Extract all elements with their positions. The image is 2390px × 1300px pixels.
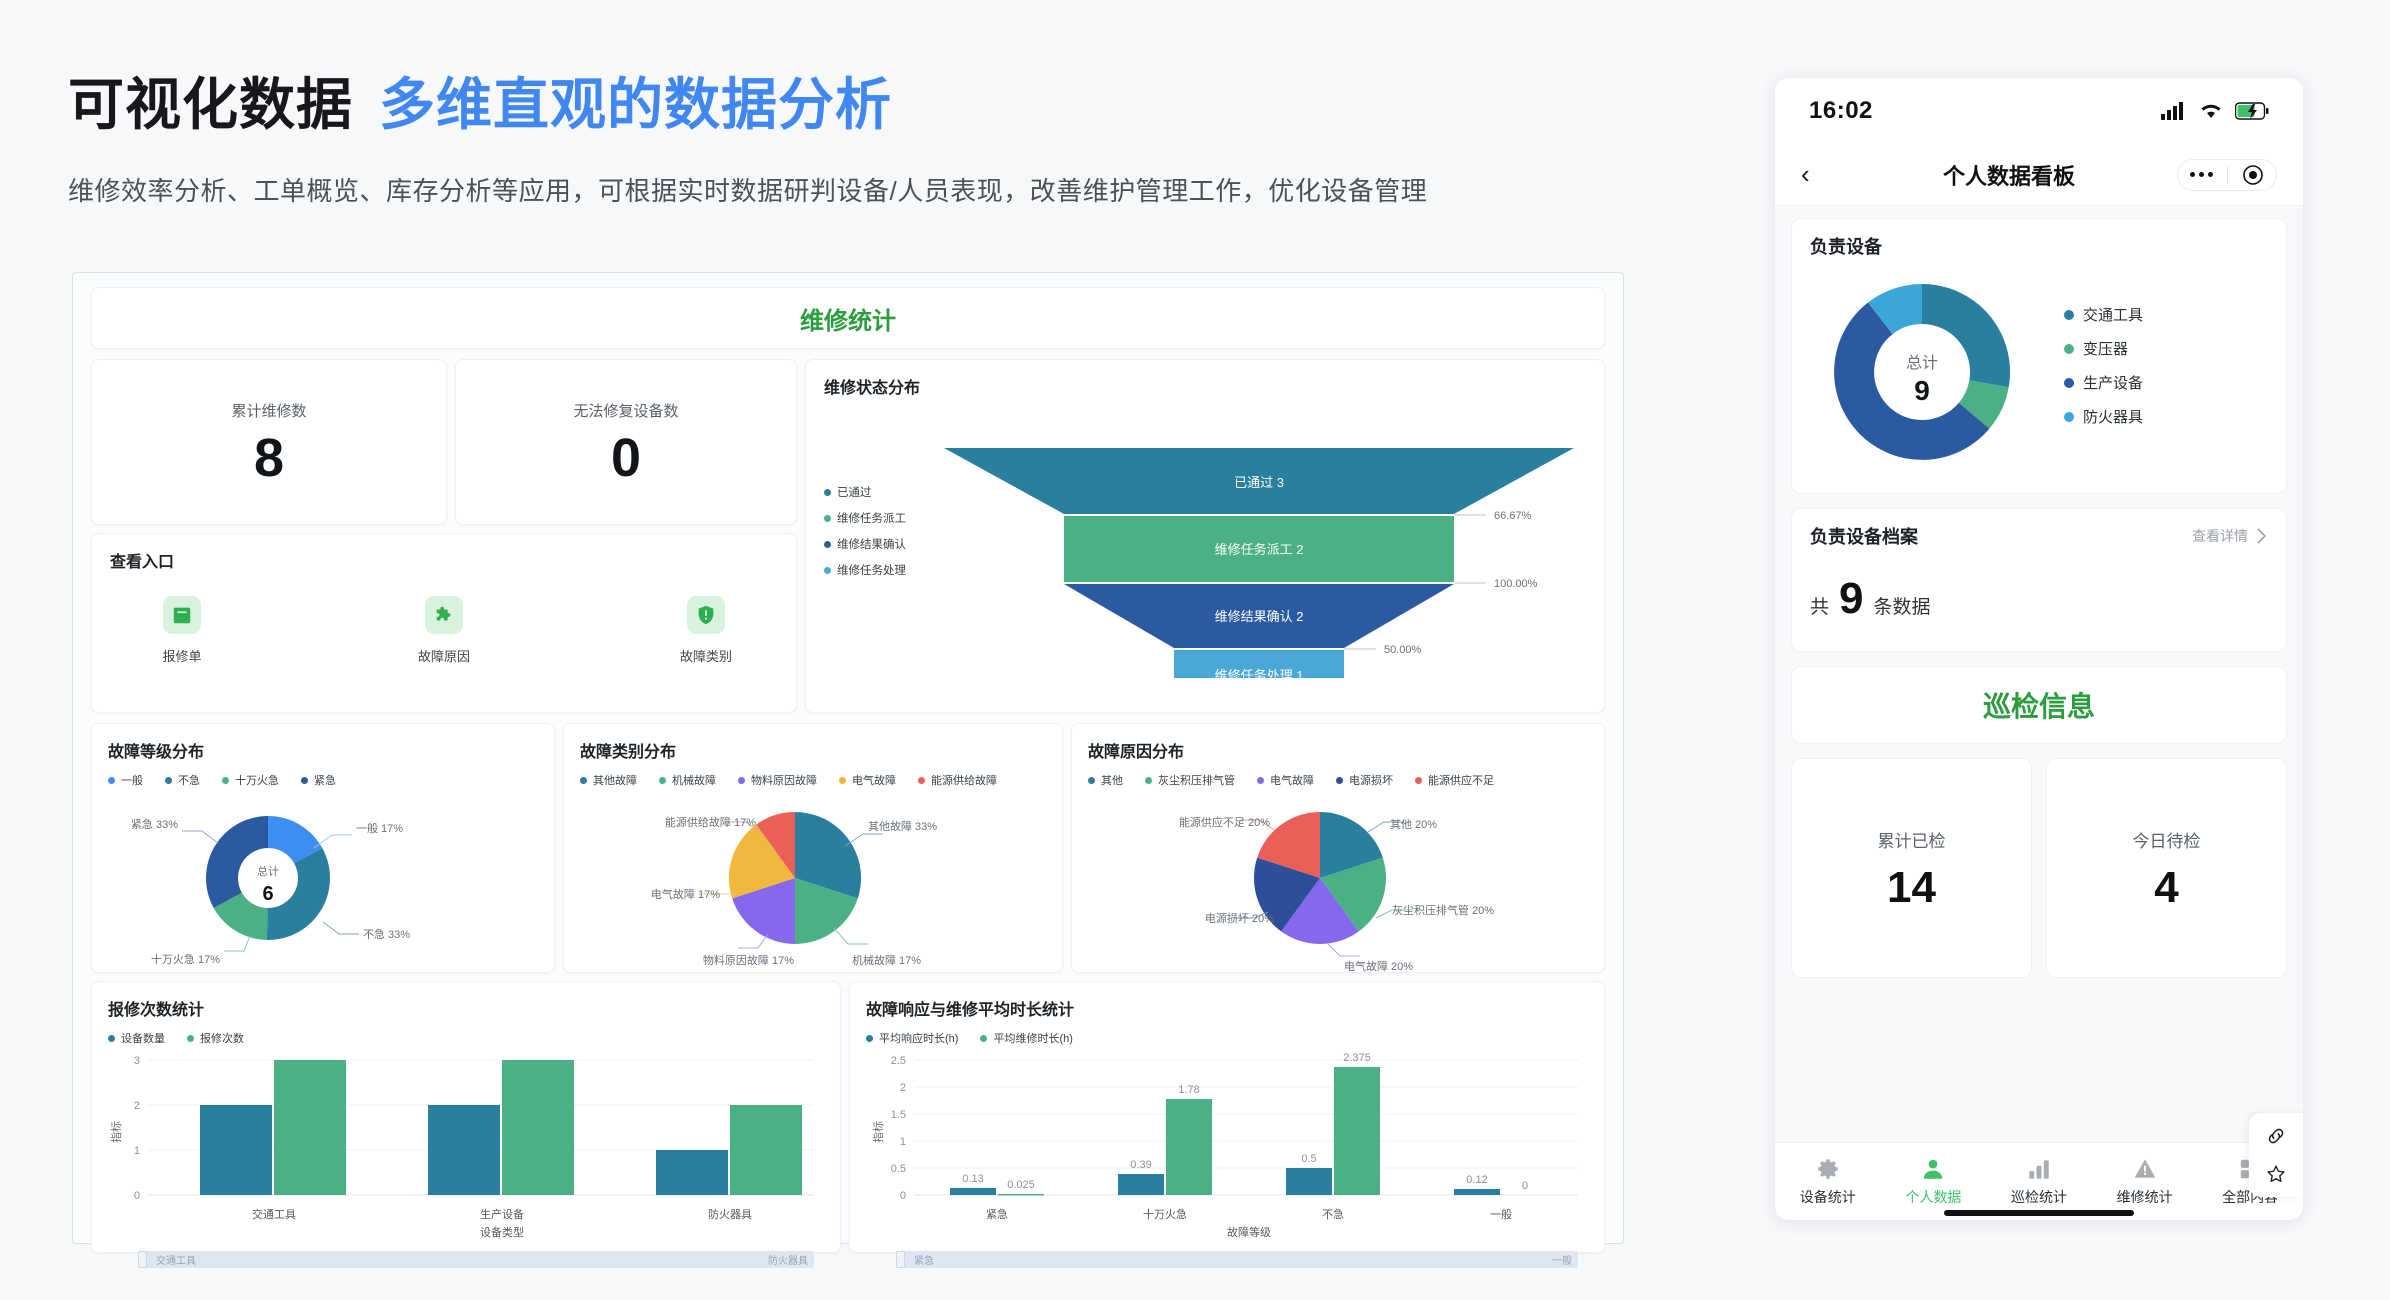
chart-legend: 平均响应时长(h) 平均维修时长(h) — [866, 1030, 1588, 1046]
funnel-segment-label: 维修任务派工 2 — [1215, 542, 1304, 557]
legend-dot — [866, 1035, 873, 1042]
kpi-card-unrepairable[interactable]: 无法修复设备数 0 — [455, 359, 797, 525]
pie-slice-label: 十万火急 17% — [151, 952, 220, 966]
bar-value-label: 0.39 — [1130, 1159, 1151, 1171]
pie-slice-label: 灰尘积压排气管 20% — [1392, 903, 1494, 917]
page-root: 可视化数据多维直观的数据分析 维修效率分析、工单概览、库存分析等应用，可根据实时… — [0, 0, 2390, 1300]
legend-label: 电气故障 — [852, 772, 896, 788]
chart-legend: 一般 不急 十万火急 紧急 — [108, 772, 538, 788]
legend-label: 灰尘积压排气管 — [1158, 772, 1235, 788]
legend-item[interactable]: 已通过 — [824, 484, 906, 500]
legend-dot — [2064, 378, 2074, 388]
legend-dot — [108, 1035, 115, 1042]
pie-slice-label: 一般 17% — [356, 822, 403, 835]
stat-card-checked[interactable]: 累计已检 14 — [1791, 758, 2032, 978]
y-tick: 1.5 — [891, 1109, 906, 1121]
legend-label: 物料原因故障 — [751, 772, 817, 788]
scroll-label-right: 一般 — [1552, 1252, 1572, 1267]
donut-svg: 总计 6 一般 17% 不急 33% 十万火急 17% 紧急 33% — [108, 788, 540, 974]
legend-dot — [1336, 777, 1343, 784]
legend-dot — [1145, 777, 1152, 784]
legend-dot — [222, 777, 229, 784]
legend-label: 已通过 — [837, 484, 872, 500]
legend-item[interactable]: 其他 — [1088, 772, 1123, 788]
legend-item[interactable]: 设备数量 — [108, 1030, 165, 1046]
view-detail-label: 查看详情 — [2192, 526, 2248, 546]
y-tick: 1 — [900, 1136, 906, 1148]
legend-dot — [187, 1035, 194, 1042]
donut-center-label: 总计 — [257, 864, 279, 878]
stat-label: 今日待检 — [2133, 827, 2201, 852]
chart-legend: 其他故障 机械故障 物料原因故障 电气故障 能源供给故障 — [580, 772, 1046, 788]
funnel-legend: 已通过 维修任务派工 维修结果确认 维修任务处理 — [824, 484, 906, 588]
kpi-label: 无法修复设备数 — [573, 400, 678, 421]
scroll-handle[interactable] — [896, 1251, 905, 1268]
divider — [2227, 166, 2228, 184]
entry-label: 故障类别 — [680, 646, 732, 665]
status-time: 16:02 — [1809, 97, 1873, 125]
x-tick: 紧急 — [986, 1207, 1008, 1221]
gear-icon — [1815, 1156, 1841, 1182]
legend-item[interactable]: 维修任务派工 — [824, 510, 906, 526]
hero-section: 可视化数据多维直观的数据分析 维修效率分析、工单概览、库存分析等应用，可根据实时… — [68, 60, 1708, 208]
legend-label: 其他故障 — [593, 772, 637, 788]
kpi-value: 8 — [254, 431, 284, 485]
tab-label: 巡检统计 — [2011, 1187, 2067, 1207]
tab-label: 设备统计 — [1800, 1187, 1856, 1207]
legend-item[interactable]: 能源供给故障 — [918, 772, 997, 788]
star-icon[interactable] — [2265, 1163, 2287, 1185]
y-tick: 2.5 — [891, 1055, 906, 1067]
legend-dot — [659, 777, 666, 784]
chart-legend: 其他 灰尘积压排气管 电气故障 电源损坏 能源供应不足 — [1088, 772, 1588, 788]
legend-item[interactable]: 维修任务处理 — [824, 562, 906, 578]
x-tick: 一般 — [1490, 1208, 1512, 1221]
shield-alert-icon — [687, 596, 725, 634]
page-subtitle: 维修效率分析、工单概览、库存分析等应用，可根据实时数据研判设备/人员表现，改善维… — [68, 171, 1708, 208]
bar-chart-svg: 2.5 2 1.5 1 0.5 0 指标 0. — [866, 1046, 1590, 1246]
stat-value: 4 — [2154, 866, 2178, 910]
y-tick: 0.5 — [891, 1163, 906, 1175]
legend-dot — [2064, 310, 2074, 320]
tab-personal-data[interactable]: 个人数据 — [1881, 1156, 1987, 1207]
more-dots-icon[interactable] — [2190, 172, 2213, 177]
inspection-stats-row: 累计已检 14 今日待检 4 — [1791, 758, 2287, 978]
archive-count: 共 9 条数据 — [1792, 549, 2286, 651]
entries-card: 查看入口 报修单 故障原因 — [91, 533, 797, 713]
legend-label: 维修任务处理 — [837, 562, 906, 578]
legend-item[interactable]: 物料原因故障 — [738, 772, 817, 788]
legend-item[interactable]: 电源损坏 — [1336, 772, 1393, 788]
legend-label: 平均维修时长(h) — [993, 1030, 1072, 1046]
legend-item[interactable]: 电气故障 — [1257, 772, 1314, 788]
legend-item[interactable]: 不急 — [165, 772, 200, 788]
repair-count-chart-card: 报修次数统计 设备数量 报修次数 3 2 1 0 指标 — [91, 981, 841, 1253]
x-axis-label: 故障等级 — [1227, 1225, 1271, 1239]
person-icon — [1920, 1156, 1946, 1182]
funnel-conversion-label: 50.00% — [1384, 644, 1422, 656]
legend-item[interactable]: 平均维修时长(h) — [980, 1030, 1072, 1046]
signal-icon — [2161, 102, 2187, 120]
device-donut-svg: 总计 9 — [1804, 267, 2054, 477]
legend-label: 维修结果确认 — [837, 536, 906, 552]
count-prefix: 共 — [1810, 592, 1829, 619]
battery-charging-icon — [2235, 102, 2269, 120]
legend-item[interactable]: 维修结果确认 — [824, 536, 906, 552]
donut-center-value: 6 — [262, 883, 273, 905]
fault-reason-chart-card: 故障原因分布 其他 灰尘积压排气管 电气故障 电源损坏 能源供应不足 — [1071, 723, 1605, 973]
x-tick: 防火器具 — [708, 1207, 752, 1221]
entry-fault-reason[interactable]: 故障原因 — [372, 596, 516, 665]
pie-slice-label: 机械故障 17% — [852, 953, 921, 967]
dashboard-frame: 维修统计 累计维修数 8 无法修复设备数 0 查看入口 报修单 — [72, 272, 1624, 1244]
page-title-primary: 可视化数据 — [68, 73, 353, 136]
count-value: 9 — [1839, 577, 1863, 621]
tab-label: 维修统计 — [2117, 1187, 2173, 1207]
legend-label: 十万火急 — [235, 772, 279, 788]
count-suffix: 条数据 — [1874, 592, 1931, 619]
legend-label: 防火器具 — [2083, 406, 2143, 427]
y-axis-label: 指标 — [871, 1121, 885, 1143]
target-icon[interactable] — [2242, 164, 2264, 186]
entry-repair-order[interactable]: 报修单 — [110, 596, 254, 665]
scroll-label-right: 防火器具 — [768, 1252, 808, 1267]
legend-label: 电气故障 — [1270, 772, 1314, 788]
bar-value-label: 0.025 — [1007, 1179, 1035, 1191]
home-indicator — [1944, 1210, 2134, 1216]
legend-item[interactable]: 交通工具 — [2064, 304, 2143, 325]
pie-slice-label: 其他故障 33% — [868, 819, 937, 833]
tab-bar: 设备统计 个人数据 巡检统计 — [1775, 1142, 2303, 1220]
funnel-svg: 已通过 3 维修任务派工 2 维修结果确认 2 维修任务处理 1 66.67% … — [934, 408, 1584, 678]
fault-category-chart-card: 故障类别分布 其他故障 机械故障 物料原因故障 电气故障 能源供给故障 — [563, 723, 1063, 973]
legend-dot — [1257, 777, 1264, 784]
legend-dot — [824, 515, 831, 522]
legend-dot — [165, 777, 172, 784]
bar-value-label: 0.5 — [1301, 1153, 1316, 1165]
funnel-conversion-label: 66.67% — [1494, 510, 1532, 522]
y-tick: 1 — [134, 1145, 140, 1157]
page-title-secondary: 多维直观的数据分析 — [379, 73, 892, 136]
legend-label: 变压器 — [2083, 338, 2128, 359]
entries-title: 查看入口 — [110, 548, 778, 572]
legend-item[interactable]: 生产设备 — [2064, 372, 2143, 393]
y-tick: 3 — [134, 1055, 140, 1067]
status-bar: 16:02 — [1775, 78, 2303, 144]
legend-label: 设备数量 — [121, 1030, 165, 1046]
device-donut-legend: 交通工具 变压器 生产设备 防火器具 — [2064, 304, 2143, 440]
legend-item[interactable]: 防火器具 — [2064, 406, 2143, 427]
legend-label: 紧急 — [314, 772, 336, 788]
tab-device-stats[interactable]: 设备统计 — [1775, 1156, 1881, 1207]
legend-dot — [918, 777, 925, 784]
pie-svg: 其他故障 33% 机械故障 17% 物料原因故障 17% 电气故障 17% 能源… — [580, 788, 1048, 974]
phone-content: 负责设备 总计 9 — [1775, 206, 2303, 1142]
legend-label: 电源损坏 — [1349, 772, 1393, 788]
view-detail-link[interactable]: 查看详情 — [2192, 526, 2268, 546]
pie-slice-label: 物料原因故障 17% — [703, 953, 794, 967]
chart-title: 故障类别分布 — [580, 738, 1046, 762]
bar-value-label: 0.12 — [1466, 1174, 1487, 1186]
kpi-label: 累计维修数 — [231, 400, 306, 421]
device-archive-card: 负责设备档案 查看详情 共 9 条数据 — [1791, 508, 2287, 652]
legend-item[interactable]: 灰尘积压排气管 — [1145, 772, 1235, 788]
legend-dot — [1415, 777, 1422, 784]
funnel-title: 维修状态分布 — [824, 374, 1586, 398]
legend-label: 能源供应不足 — [1428, 772, 1494, 788]
legend-label: 平均响应时长(h) — [879, 1030, 958, 1046]
legend-item[interactable]: 其他故障 — [580, 772, 637, 788]
page-title: 可视化数据多维直观的数据分析 — [68, 60, 1708, 141]
x-tick: 不急 — [1322, 1207, 1344, 1221]
y-tick: 0 — [134, 1190, 140, 1202]
pie-slice-label: 电源损坏 20% — [1205, 911, 1274, 925]
legend-dot — [1088, 777, 1095, 784]
calendar-icon — [163, 596, 201, 634]
chart-title: 故障等级分布 — [108, 738, 538, 762]
bar-value-label: 1.78 — [1178, 1084, 1199, 1096]
kpi-card-total-repairs[interactable]: 累计维修数 8 — [91, 359, 447, 525]
legend-dot — [301, 777, 308, 784]
entry-label: 报修单 — [162, 646, 201, 665]
entry-fault-category[interactable]: 故障类别 — [634, 596, 778, 665]
legend-dot — [580, 777, 587, 784]
tab-repair-stats[interactable]: 维修统计 — [2092, 1156, 2198, 1207]
scroll-label-left: 交通工具 — [156, 1252, 196, 1267]
floating-toolbar — [2249, 1113, 2303, 1197]
legend-dot — [2064, 412, 2074, 422]
pie-slice-label: 能源供应不足 20% — [1179, 815, 1270, 829]
pie-slice-label: 电气故障 17% — [651, 887, 720, 901]
legend-dot — [824, 567, 831, 574]
warning-icon — [2132, 1156, 2158, 1182]
inspection-banner-label: 巡检信息 — [1983, 691, 2095, 722]
chart-title: 报修次数统计 — [108, 996, 824, 1020]
funnel-segment-label: 维修结果确认 2 — [1215, 609, 1304, 624]
chart-scrollbar[interactable]: 交通工具 防火器具 — [138, 1251, 814, 1268]
legend-label: 其他 — [1101, 772, 1123, 788]
nav-title: 个人数据看板 — [1841, 159, 2177, 191]
legend-dot — [108, 777, 115, 784]
legend-item[interactable]: 十万火急 — [222, 772, 279, 788]
tab-inspection-stats[interactable]: 巡检统计 — [1986, 1156, 2092, 1207]
legend-dot — [980, 1035, 987, 1042]
legend-item[interactable]: 变压器 — [2064, 338, 2143, 359]
bar-value-label: 0.13 — [962, 1173, 983, 1185]
back-button[interactable]: ‹ — [1801, 159, 1841, 190]
pie-slice-label: 能源供给故障 17% — [665, 815, 756, 829]
pie-svg: 其他 20% 灰尘积压排气管 20% 电气故障 20% 电源损坏 20% 能源供… — [1088, 788, 1590, 974]
legend-label: 能源供给故障 — [931, 772, 997, 788]
donut-center-label: 总计 — [1906, 354, 1938, 372]
chevron-right-icon — [2256, 527, 2268, 545]
legend-label: 一般 — [121, 772, 143, 788]
legend-label: 不急 — [178, 772, 200, 788]
donut-center-value: 9 — [1914, 375, 1930, 406]
legend-label: 机械故障 — [672, 772, 716, 788]
inspection-banner[interactable]: 巡检信息 — [1791, 666, 2287, 744]
pie-slice-label: 不急 33% — [363, 927, 410, 941]
chart-scrollbar[interactable]: 紧急 一般 — [896, 1251, 1578, 1268]
legend-item[interactable]: 平均响应时长(h) — [866, 1030, 958, 1046]
device-summary-card: 负责设备 总计 9 — [1791, 218, 2287, 494]
scroll-label-left: 紧急 — [914, 1252, 934, 1267]
device-card-title: 负责设备 — [1810, 233, 1882, 259]
dashboard-header-title: 维修统计 — [800, 301, 896, 336]
legend-label: 维修任务派工 — [837, 510, 906, 526]
nav-bar: ‹ 个人数据看板 — [1775, 144, 2303, 206]
bar-value-label: 0 — [1522, 1180, 1528, 1192]
legend-label: 生产设备 — [2083, 372, 2143, 393]
fault-level-chart-card: 故障等级分布 一般 不急 十万火急 紧急 — [91, 723, 555, 973]
chart-title: 故障响应与维修平均时长统计 — [866, 996, 1588, 1020]
legend-dot — [824, 541, 831, 548]
pie-slice-label: 紧急 33% — [131, 817, 178, 831]
legend-dot — [839, 777, 846, 784]
response-duration-chart-card: 故障响应与维修平均时长统计 平均响应时长(h) 平均维修时长(h) 2.5 2 — [849, 981, 1605, 1253]
x-axis-label: 设备类型 — [480, 1225, 524, 1239]
y-axis-label: 指标 — [109, 1121, 123, 1143]
entry-label: 故障原因 — [418, 646, 470, 665]
chart-title: 故障原因分布 — [1088, 738, 1588, 762]
funnel-conversion-label: 100.00% — [1494, 578, 1538, 590]
tab-label: 个人数据 — [1905, 1187, 1961, 1207]
kpi-value: 0 — [611, 431, 641, 485]
legend-item[interactable]: 电气故障 — [839, 772, 896, 788]
chart-legend: 设备数量 报修次数 — [108, 1030, 824, 1046]
stat-value: 14 — [1887, 866, 1936, 910]
funnel-segment-label: 已通过 3 — [1234, 475, 1284, 490]
y-tick: 2 — [900, 1082, 906, 1094]
archive-card-title: 负责设备档案 — [1810, 523, 1918, 549]
legend-dot — [738, 777, 745, 784]
legend-item[interactable]: 报修次数 — [187, 1030, 244, 1046]
pie-slice-label: 电气故障 20% — [1344, 959, 1413, 973]
x-tick: 交通工具 — [252, 1207, 296, 1221]
bar-chart-svg: 3 2 1 0 指标 交通工具 生产设备 防火器具 — [108, 1046, 826, 1246]
funnel-segment-label: 维修任务处理 1 — [1215, 668, 1304, 678]
legend-dot — [2064, 344, 2074, 354]
legend-label: 交通工具 — [2083, 304, 2143, 325]
legend-dot — [824, 489, 831, 496]
bar-value-label: 2.375 — [1343, 1052, 1371, 1064]
y-tick: 2 — [134, 1100, 140, 1112]
legend-item[interactable]: 能源供应不足 — [1415, 772, 1494, 788]
stat-card-pending[interactable]: 今日待检 4 — [2046, 758, 2287, 978]
pie-slice-label: 其他 20% — [1390, 818, 1437, 831]
wifi-icon — [2199, 102, 2223, 120]
legend-item[interactable]: 紧急 — [301, 772, 336, 788]
phone-mockup: 16:02 ‹ 个人数据看板 — [1775, 78, 2303, 1220]
legend-label: 报修次数 — [200, 1030, 244, 1046]
dashboard-header: 维修统计 — [91, 287, 1605, 349]
scroll-handle[interactable] — [138, 1251, 147, 1268]
y-tick: 0 — [900, 1190, 906, 1202]
funnel-chart-card: 维修状态分布 已通过 维修任务派工 维修结果确认 维修任务处理 已通过 3 — [805, 359, 1605, 713]
puzzle-icon — [425, 596, 463, 634]
legend-item[interactable]: 机械故障 — [659, 772, 716, 788]
link-icon[interactable] — [2265, 1125, 2287, 1147]
legend-item[interactable]: 一般 — [108, 772, 143, 788]
stat-label: 累计已检 — [1878, 827, 1946, 852]
x-tick: 十万火急 — [1143, 1207, 1187, 1221]
bar-chart-icon — [2026, 1156, 2052, 1182]
x-tick: 生产设备 — [480, 1207, 524, 1221]
